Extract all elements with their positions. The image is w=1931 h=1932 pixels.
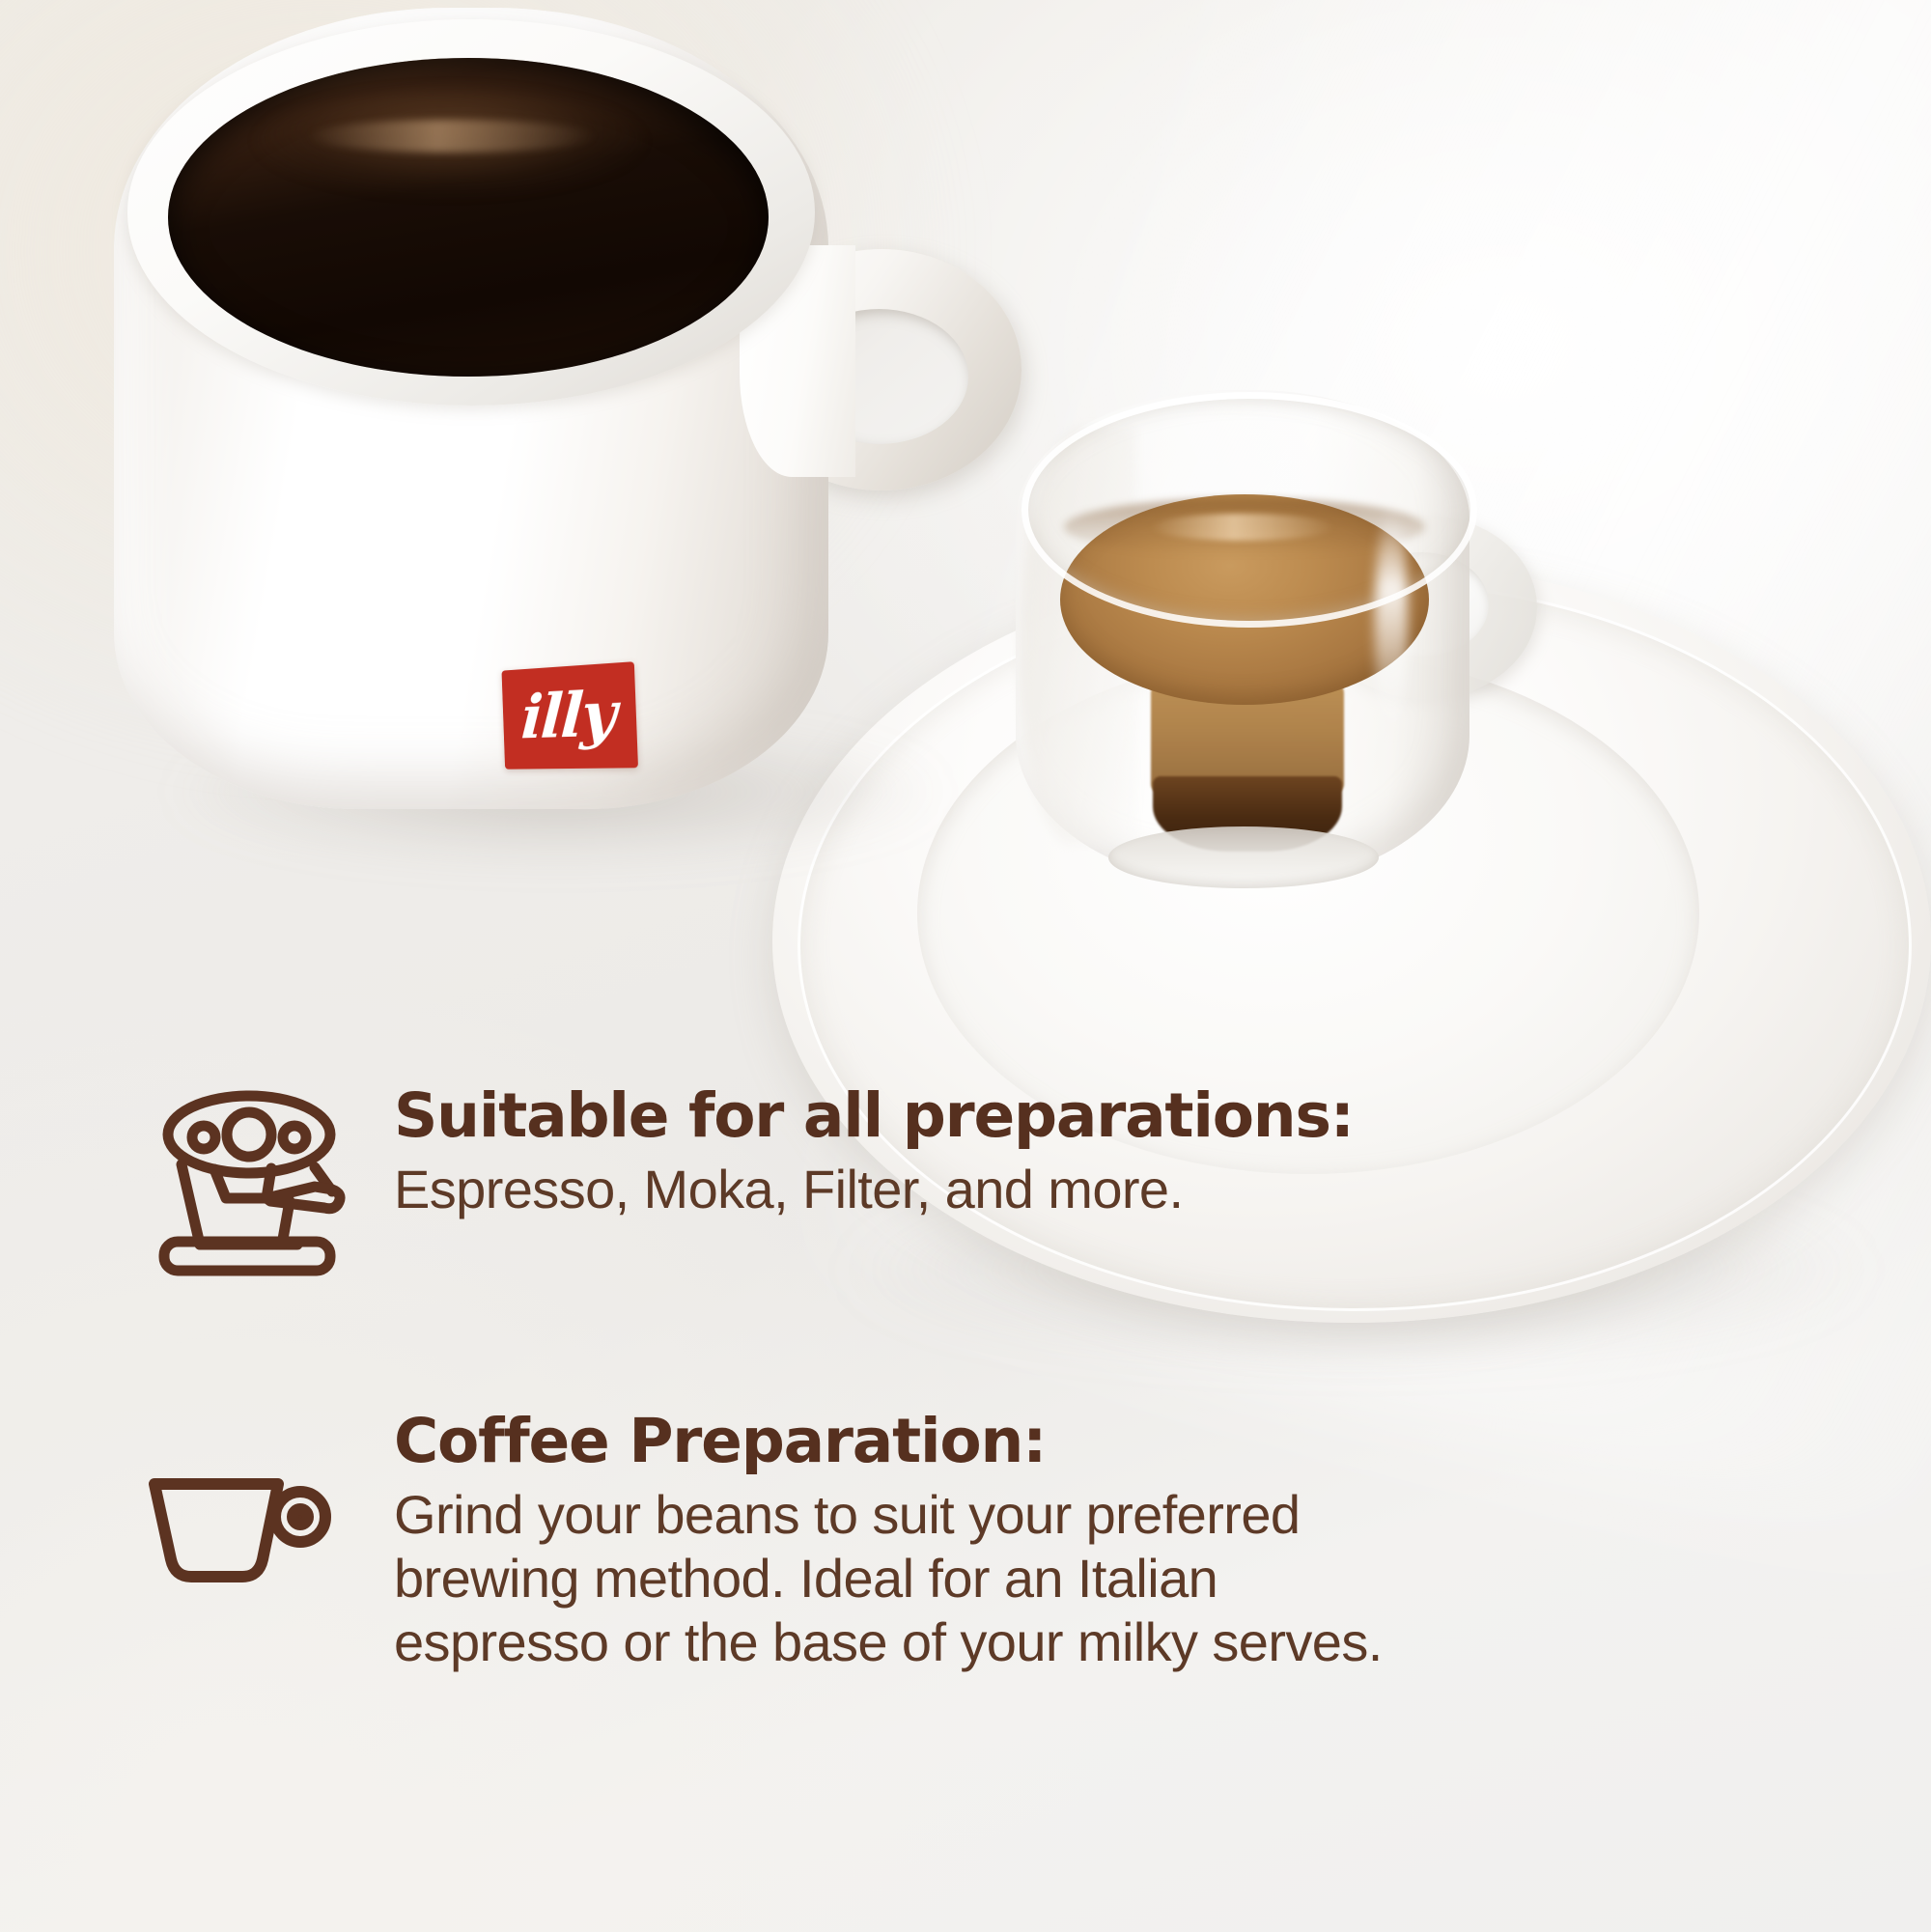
feature-body-line: espresso or the base of your milky serve…: [394, 1610, 1765, 1674]
white-ceramic-mug: [114, 8, 828, 809]
glass-cup-highlight: [1375, 506, 1408, 738]
espresso-machine-icon: [143, 1081, 394, 1276]
feature-body-line: brewing method. Ideal for an Italian: [394, 1547, 1765, 1610]
feature-body: Grind your beans to suit your preferred …: [394, 1483, 1765, 1674]
feature-body-line: Espresso, Moka, Filter, and more.: [394, 1158, 1765, 1221]
glass-cup-base: [1108, 826, 1379, 888]
mug-coffee-highlight: [307, 120, 597, 153]
feature-body: Espresso, Moka, Filter, and more.: [394, 1158, 1765, 1221]
feature-title: Suitable for all preparations:: [394, 1085, 1931, 1146]
feature-coffee-preparation: Coffee Preparation: Grind your beans to …: [0, 1407, 1931, 1674]
illy-logo-text: illy: [520, 682, 618, 746]
feature-text-block: Suitable for all preparations: Espresso,…: [394, 1081, 1931, 1221]
feature-suitable-for-all-preparations: Suitable for all preparations: Espresso,…: [0, 1081, 1931, 1276]
illy-brand-logo: illy: [502, 661, 638, 770]
glass-espresso-cup: [1016, 390, 1556, 931]
feature-text-block: Coffee Preparation: Grind your beans to …: [394, 1407, 1931, 1674]
feature-title: Coffee Preparation:: [394, 1411, 1931, 1471]
product-feature-card: illy: [0, 0, 1931, 1932]
feature-body-line: Grind your beans to suit your preferred: [394, 1483, 1765, 1547]
glass-cup-rim: [1021, 392, 1477, 628]
feature-list: Suitable for all preparations: Espresso,…: [0, 1081, 1931, 1674]
coffee-cup-icon: [143, 1407, 394, 1600]
